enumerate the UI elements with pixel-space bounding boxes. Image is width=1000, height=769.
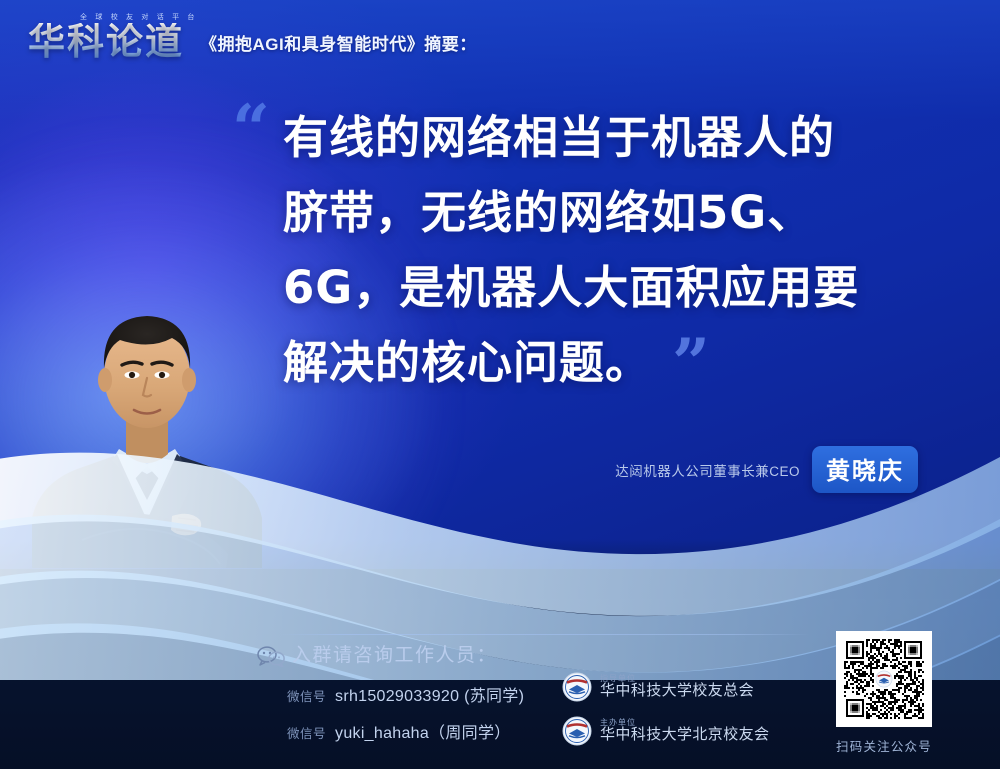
quote-open-mark: “: [232, 96, 270, 162]
speaker-name-badge: 黄晓庆: [812, 446, 918, 493]
quote-line: 解决的核心问题。: [283, 325, 963, 400]
quote-line: 6G，是机器人大面积应用要: [283, 250, 963, 325]
contact-label: 微信号: [287, 723, 326, 742]
university-seal-icon: [562, 672, 592, 702]
contact-label: 微信号: [287, 686, 326, 705]
contact-row: 微信号 yuki_hahaha（周同学）: [287, 719, 511, 743]
organizer-name: 华中科技大学北京校友会: [600, 727, 769, 743]
attribution: 达闼机器人公司董事长兼CEO 黄晓庆: [615, 446, 918, 493]
organizer-item: 主办单位 华中科技大学北京校友会: [562, 716, 769, 746]
qr-section: 扫码关注公众号: [836, 631, 932, 755]
speaker-role: 达闼机器人公司董事长兼CEO: [615, 460, 800, 480]
brand-logo: 全 球 校 友 对 话 平 台 华科论道: [28, 14, 184, 60]
footer-divider: [280, 634, 810, 635]
university-seal-icon: [562, 716, 592, 746]
qr-code[interactable]: [836, 631, 932, 727]
qr-center-logo-icon: [874, 669, 894, 689]
poster-canvas: 全 球 校 友 对 话 平 台 华科论道 《拥抱AGI和具身智能时代》摘要：: [0, 0, 1000, 769]
quote-line: 有线的网络相当于机器人的: [283, 100, 963, 175]
organizer-list: 指导单位 华中科技大学校友总会 主办单位 华中科技大学北京校友会: [562, 672, 769, 746]
contact-value: yuki_hahaha（周同学）: [335, 719, 511, 743]
quote-text: 有线的网络相当于机器人的 脐带，无线的网络如5G、 6G，是机器人大面积应用要 …: [283, 100, 963, 400]
logo-title: 华科论道: [28, 23, 184, 60]
logo-tagline: 全 球 校 友 对 话 平 台: [80, 12, 198, 22]
quote-line: 脐带，无线的网络如5G、: [283, 175, 963, 250]
wechat-icon: [256, 645, 286, 667]
footer-title: 入群请咨询工作人员：: [292, 640, 497, 667]
organizer-name: 华中科技大学校友总会: [600, 683, 754, 699]
organizer-item: 指导单位 华中科技大学校友总会: [562, 672, 769, 702]
quote-close-mark: ”: [672, 330, 710, 396]
qr-caption: 扫码关注公众号: [836, 736, 932, 755]
contact-value: srh15029033920 (苏同学): [335, 682, 524, 706]
header-subtitle: 《拥抱AGI和具身智能时代》摘要：: [200, 30, 477, 60]
contact-row: 微信号 srh15029033920 (苏同学): [287, 682, 524, 706]
poster-header: 全 球 校 友 对 话 平 台 华科论道 《拥抱AGI和具身智能时代》摘要：: [28, 14, 477, 60]
speaker-portrait: [22, 268, 272, 568]
